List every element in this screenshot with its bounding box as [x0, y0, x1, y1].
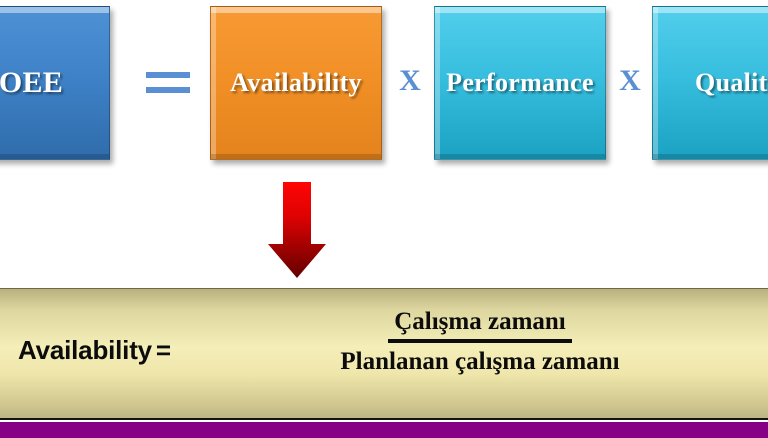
bevel-highlight-top — [211, 7, 381, 13]
bevel-shadow-bottom — [653, 154, 768, 159]
bevel-shadow-bottom — [211, 154, 381, 159]
term-label-quality: Quality — [695, 68, 768, 98]
formula-equals-sign: = — [156, 335, 171, 365]
bevel-highlight-top — [0, 7, 109, 13]
term-box-availability[interactable]: Availability — [210, 6, 382, 160]
term-label-performance: Performance — [446, 68, 594, 98]
bevel-highlight-top — [435, 7, 605, 13]
bevel-shadow-bottom — [0, 154, 109, 159]
fraction-denominator: Planlanan çalışma zamanı — [300, 347, 660, 377]
oee-equation-row: OEE Availability X Performance X Quality — [0, 0, 768, 180]
operator-multiply-2: X — [612, 66, 648, 96]
term-box-oee[interactable]: OEE — [0, 6, 110, 160]
term-box-performance[interactable]: Performance — [434, 6, 606, 160]
term-label-oee: OEE — [0, 66, 63, 100]
term-box-quality[interactable]: Quality — [652, 6, 768, 160]
bevel-highlight-left — [653, 7, 658, 159]
fraction-numerator: Çalışma zamanı — [388, 307, 572, 343]
bevel-highlight-top — [653, 7, 768, 13]
equals-bar-top — [146, 72, 190, 78]
bevel-highlight-left — [435, 7, 440, 159]
operator-equals — [142, 62, 194, 106]
operator-multiply-1: X — [392, 66, 428, 96]
down-arrow-icon — [268, 182, 326, 280]
formula-left-side: Availability= — [18, 335, 171, 366]
footer-band — [0, 422, 768, 438]
availability-fraction: Çalışma zamanı Planlanan çalışma zamanı — [300, 307, 660, 376]
bevel-highlight-left — [211, 7, 216, 159]
fraction-numerator-row: Çalışma zamanı — [300, 307, 660, 343]
availability-formula-panel: Availability= Çalışma zamanı Planlanan ç… — [0, 288, 768, 420]
term-label-availability: Availability — [230, 68, 362, 98]
equals-bar-bottom — [146, 87, 190, 93]
formula-term-availability: Availability — [18, 335, 152, 365]
bevel-shadow-bottom — [435, 154, 605, 159]
